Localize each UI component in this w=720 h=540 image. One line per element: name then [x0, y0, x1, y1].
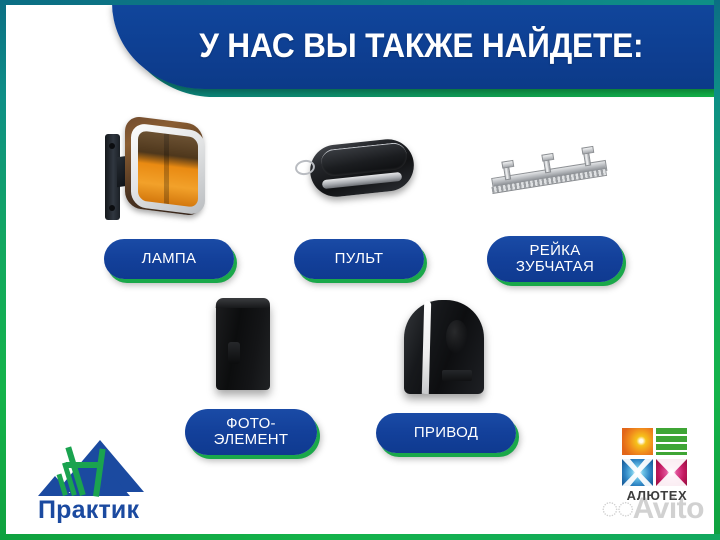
- photocell-lens-part: [228, 342, 240, 364]
- product-label-lamp-line1: ЛАМПА: [142, 251, 197, 267]
- product-label-remote-line1: ПУЛЬТ: [335, 251, 384, 267]
- photocell-top-part: [216, 298, 271, 308]
- product-card-drive[interactable]: [398, 294, 494, 402]
- photocell-body-part: [216, 300, 270, 390]
- product-label-lamp[interactable]: ЛАМПА: [104, 239, 234, 279]
- alutech-tile-green: [656, 428, 687, 455]
- alutech-tile-blue: [622, 459, 653, 486]
- product-label-photocell[interactable]: ФОТО- ЭЛЕМЕНТ: [185, 409, 317, 455]
- praktik-logo: Практик: [38, 440, 168, 526]
- product-label-drive[interactable]: ПРИВОД: [376, 413, 516, 453]
- photocell-icon: [212, 296, 278, 400]
- rack-bolt-1: [503, 164, 511, 181]
- header-blue-panel: У НАС ВЫ ТАКЖЕ НАЙДЕТЕ:: [112, 3, 718, 89]
- rack-bolt-2: [543, 157, 551, 174]
- alutech-wordmark: АЛЮТЕХ: [620, 488, 694, 503]
- toothed-rack-icon: [488, 154, 612, 206]
- product-label-photocell-line2: ЭЛЕМЕНТ: [214, 432, 289, 448]
- lamp-lens-part: [138, 130, 198, 207]
- alutech-tile-orange: [622, 428, 653, 455]
- alutech-tile-magenta: [656, 459, 687, 486]
- drive-panel-part: [442, 370, 472, 381]
- remote-control-icon: [292, 136, 428, 208]
- alutech-magenta-pinwheel-shape: [656, 459, 687, 486]
- page-title: У НАС ВЫ ТАКЖЕ НАЙДЕТЕ:: [186, 27, 643, 66]
- product-label-remote[interactable]: ПУЛЬТ: [294, 239, 424, 279]
- product-card-remote[interactable]: [292, 136, 428, 216]
- slide-canvas: У НАС ВЫ ТАКЖЕ НАЙДЕТЕ: ЛАМПА: [0, 0, 720, 540]
- gate-drive-icon: [398, 294, 492, 400]
- product-card-lamp[interactable]: [105, 116, 235, 236]
- praktik-green-bar: [66, 462, 100, 468]
- product-label-rack[interactable]: РЕЙКА ЗУБЧАТАЯ: [487, 236, 623, 282]
- product-label-rack-line2: ЗУБЧАТАЯ: [516, 259, 594, 275]
- alutech-logo: АЛЮТЕХ: [620, 428, 694, 514]
- alutech-squares-icon: [622, 428, 688, 486]
- signal-lamp-icon: [105, 116, 235, 228]
- rack-bolt-3: [583, 150, 591, 167]
- alutech-blue-butterfly-shape: [622, 459, 653, 486]
- drive-highlight-part: [446, 320, 468, 354]
- product-card-photocell[interactable]: [212, 296, 282, 400]
- praktik-triangle-icon: [38, 440, 168, 498]
- header-banner: У НАС ВЫ ТАКЖЕ НАЙДЕТЕ:: [0, 3, 718, 99]
- product-label-photocell-line1: ФОТО-: [226, 416, 276, 432]
- product-label-rack-line1: РЕЙКА: [529, 243, 580, 259]
- praktik-wordmark: Практик: [38, 496, 168, 525]
- product-card-rack[interactable]: [488, 154, 618, 214]
- product-label-drive-line1: ПРИВОД: [414, 425, 478, 441]
